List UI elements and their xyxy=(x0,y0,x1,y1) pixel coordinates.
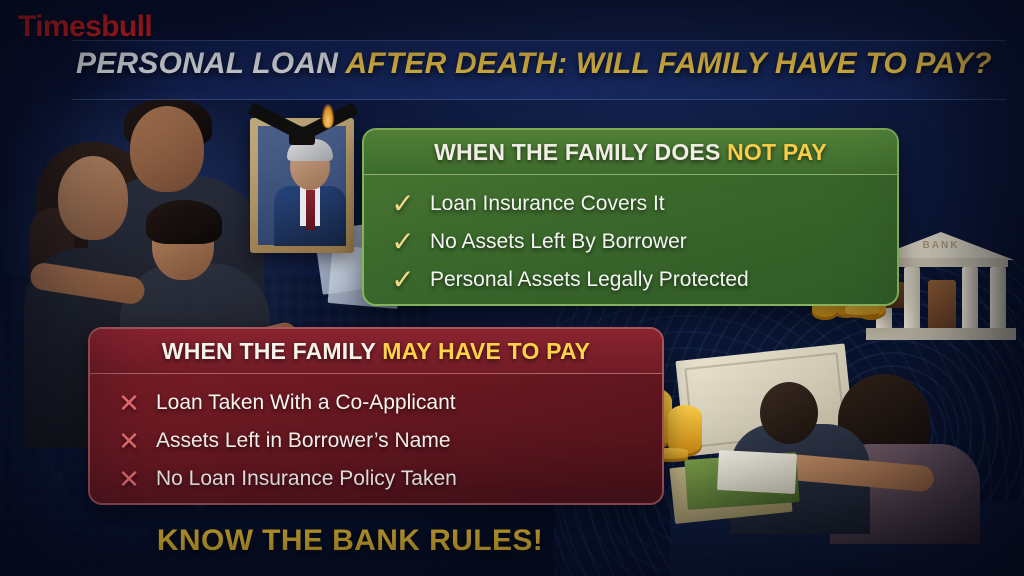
check-icon: ✓ xyxy=(390,266,416,294)
coin-stack xyxy=(845,305,879,318)
list-item: ✕ Assets Left in Borrower’s Name xyxy=(116,422,662,460)
open-book-pages xyxy=(717,450,797,494)
infographic-canvas: BANK Timesbull PERSONAL LOAN AFTER DEATH… xyxy=(0,0,1024,576)
man-head xyxy=(760,382,818,444)
list-item-label: No Assets Left By Borrower xyxy=(430,230,687,254)
footer-callout: KNOW THE BANK RULES! xyxy=(0,524,700,558)
list-item: ✓ Personal Assets Legally Protected xyxy=(390,261,897,299)
panel-header-gold: MAY HAVE TO PAY xyxy=(382,338,590,364)
panel-header-gold: NOT PAY xyxy=(727,139,827,165)
cross-icon: ✕ xyxy=(116,390,142,416)
cross-icon: ✕ xyxy=(116,428,142,454)
bank-door xyxy=(928,280,956,328)
man-head xyxy=(130,106,204,192)
portrait-tie xyxy=(306,190,315,230)
list-item-label: No Loan Insurance Policy Taken xyxy=(156,467,457,491)
page-title-white: PERSONAL LOAN xyxy=(76,47,346,80)
boy-hair xyxy=(146,200,222,244)
woman-head xyxy=(58,156,128,240)
page-title-gold: AFTER DEATH: WILL FAMILY HAVE TO PAY? xyxy=(346,47,992,80)
list-item-label: Loan Insurance Covers It xyxy=(430,192,665,216)
bank-base xyxy=(866,328,1016,340)
list-item-label: Personal Assets Legally Protected xyxy=(430,268,749,292)
panel-does-not-pay: WHEN THE FAMILY DOES NOT PAY ✓ Loan Insu… xyxy=(362,128,899,306)
panel-does-not-pay-header: WHEN THE FAMILY DOES NOT PAY xyxy=(364,130,897,175)
panel-header-white: WHEN THE FAMILY DOES xyxy=(434,139,727,165)
list-item: ✕ No Loan Insurance Policy Taken xyxy=(116,460,662,498)
panel-does-not-pay-list: ✓ Loan Insurance Covers It ✓ No Assets L… xyxy=(364,175,897,306)
check-icon: ✓ xyxy=(390,190,416,218)
list-item: ✓ Loan Insurance Covers It xyxy=(390,185,897,223)
brand-logo: Timesbull xyxy=(18,10,152,44)
bank-column xyxy=(990,267,1006,329)
mourning-ribbon-icon xyxy=(241,112,363,156)
cross-icon: ✕ xyxy=(116,466,142,492)
list-item: ✕ Loan Taken With a Co-Applicant xyxy=(116,384,662,422)
panel-header-white: WHEN THE FAMILY xyxy=(162,338,382,364)
panel-may-have-to-pay: WHEN THE FAMILY MAY HAVE TO PAY ✕ Loan T… xyxy=(88,327,664,505)
page-title: PERSONAL LOAN AFTER DEATH: WILL FAMILY H… xyxy=(76,47,1020,81)
list-item: ✓ No Assets Left By Borrower xyxy=(390,223,897,261)
panel-may-have-to-pay-list: ✕ Loan Taken With a Co-Applicant ✕ Asset… xyxy=(90,374,662,505)
bank-column xyxy=(962,267,978,329)
candle-flame-icon xyxy=(322,104,334,128)
distressed-couple-illustration xyxy=(690,352,1024,576)
list-item-label: Assets Left in Borrower’s Name xyxy=(156,429,451,453)
panel-may-have-to-pay-header: WHEN THE FAMILY MAY HAVE TO PAY xyxy=(90,329,662,374)
bank-column xyxy=(904,267,920,329)
list-item-label: Loan Taken With a Co-Applicant xyxy=(156,391,456,415)
check-icon: ✓ xyxy=(390,228,416,256)
